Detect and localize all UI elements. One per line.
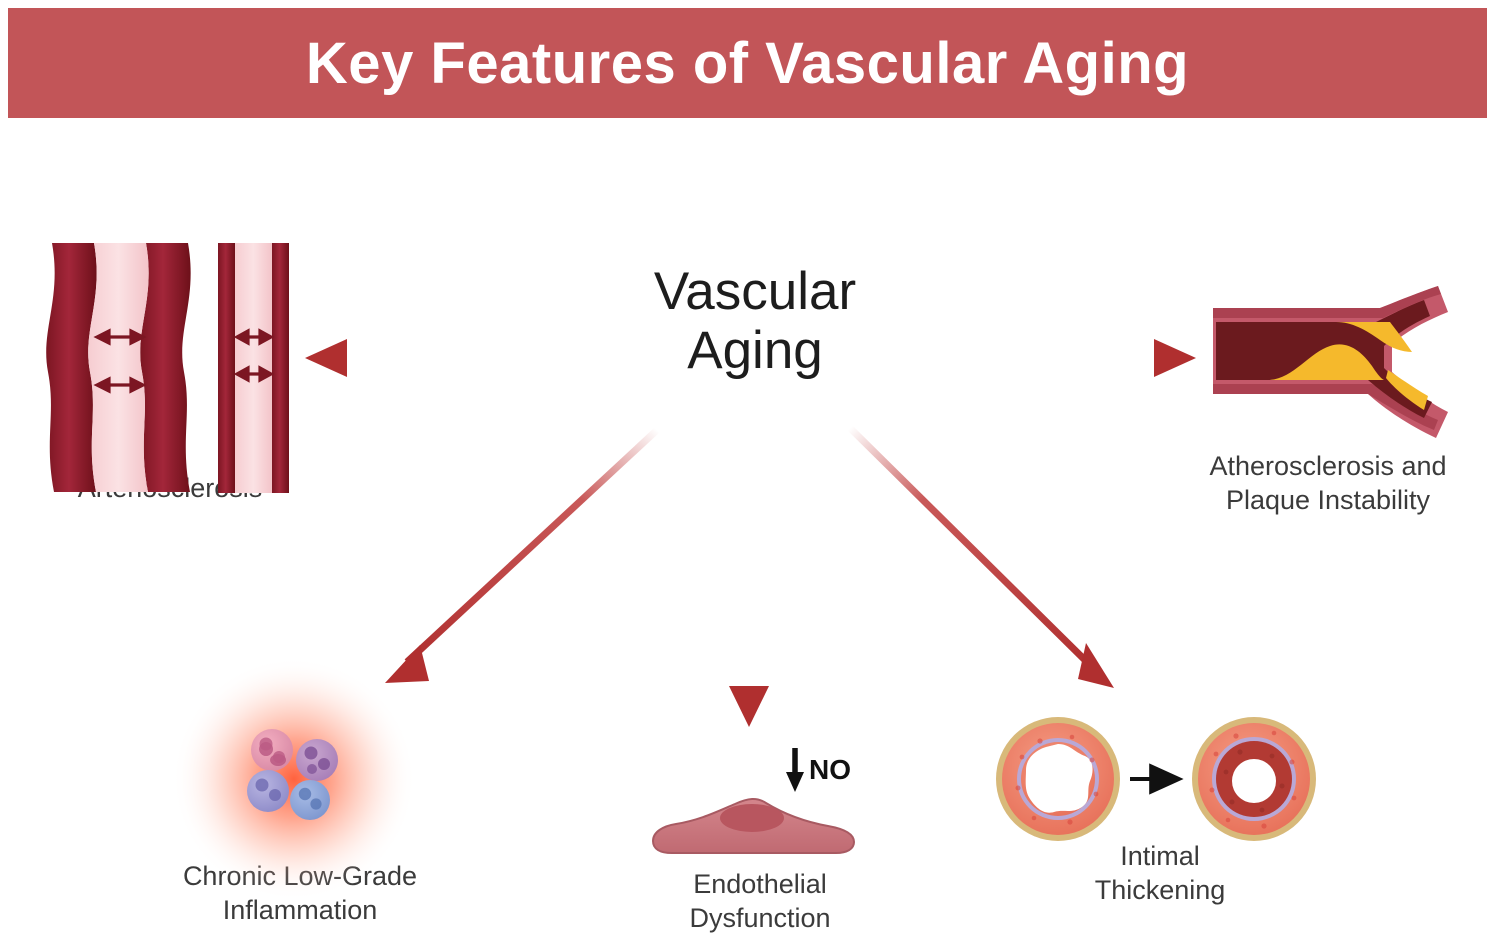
- illustration-layer: NO: [0, 0, 1500, 951]
- no-decrease-arrow-icon: [786, 748, 804, 792]
- arrow-to-inflammation: [385, 430, 657, 683]
- illustration-endothelial: NO: [653, 748, 854, 853]
- vessel-elastic: [46, 243, 190, 492]
- arrow-to-arteriosclerosis: [305, 339, 600, 377]
- arrow-to-endothelial: [729, 426, 769, 727]
- vessel-stiff: [218, 243, 289, 493]
- immune-cell: [251, 729, 293, 771]
- arrow-to-atherosclerosis: [905, 339, 1196, 377]
- arrow-to-intimal: [850, 428, 1114, 688]
- vessel-cross-section-thickened: [1192, 717, 1316, 841]
- figure-root: Key Features of Vascular Aging Vascular …: [0, 0, 1500, 951]
- illustration-arteriosclerosis: [46, 243, 289, 493]
- no-annotation-label: NO: [809, 754, 851, 785]
- illustration-atherosclerosis: [1213, 286, 1448, 438]
- immune-cell: [247, 770, 289, 812]
- illustration-inflammation: [172, 657, 416, 901]
- immune-cell: [290, 780, 330, 820]
- immune-cell: [296, 739, 338, 781]
- vessel-cross-section-normal: [996, 717, 1120, 841]
- illustration-intimal: [996, 717, 1316, 841]
- inflammation-glow: [172, 657, 416, 901]
- endothelial-cell-nucleus: [720, 804, 784, 832]
